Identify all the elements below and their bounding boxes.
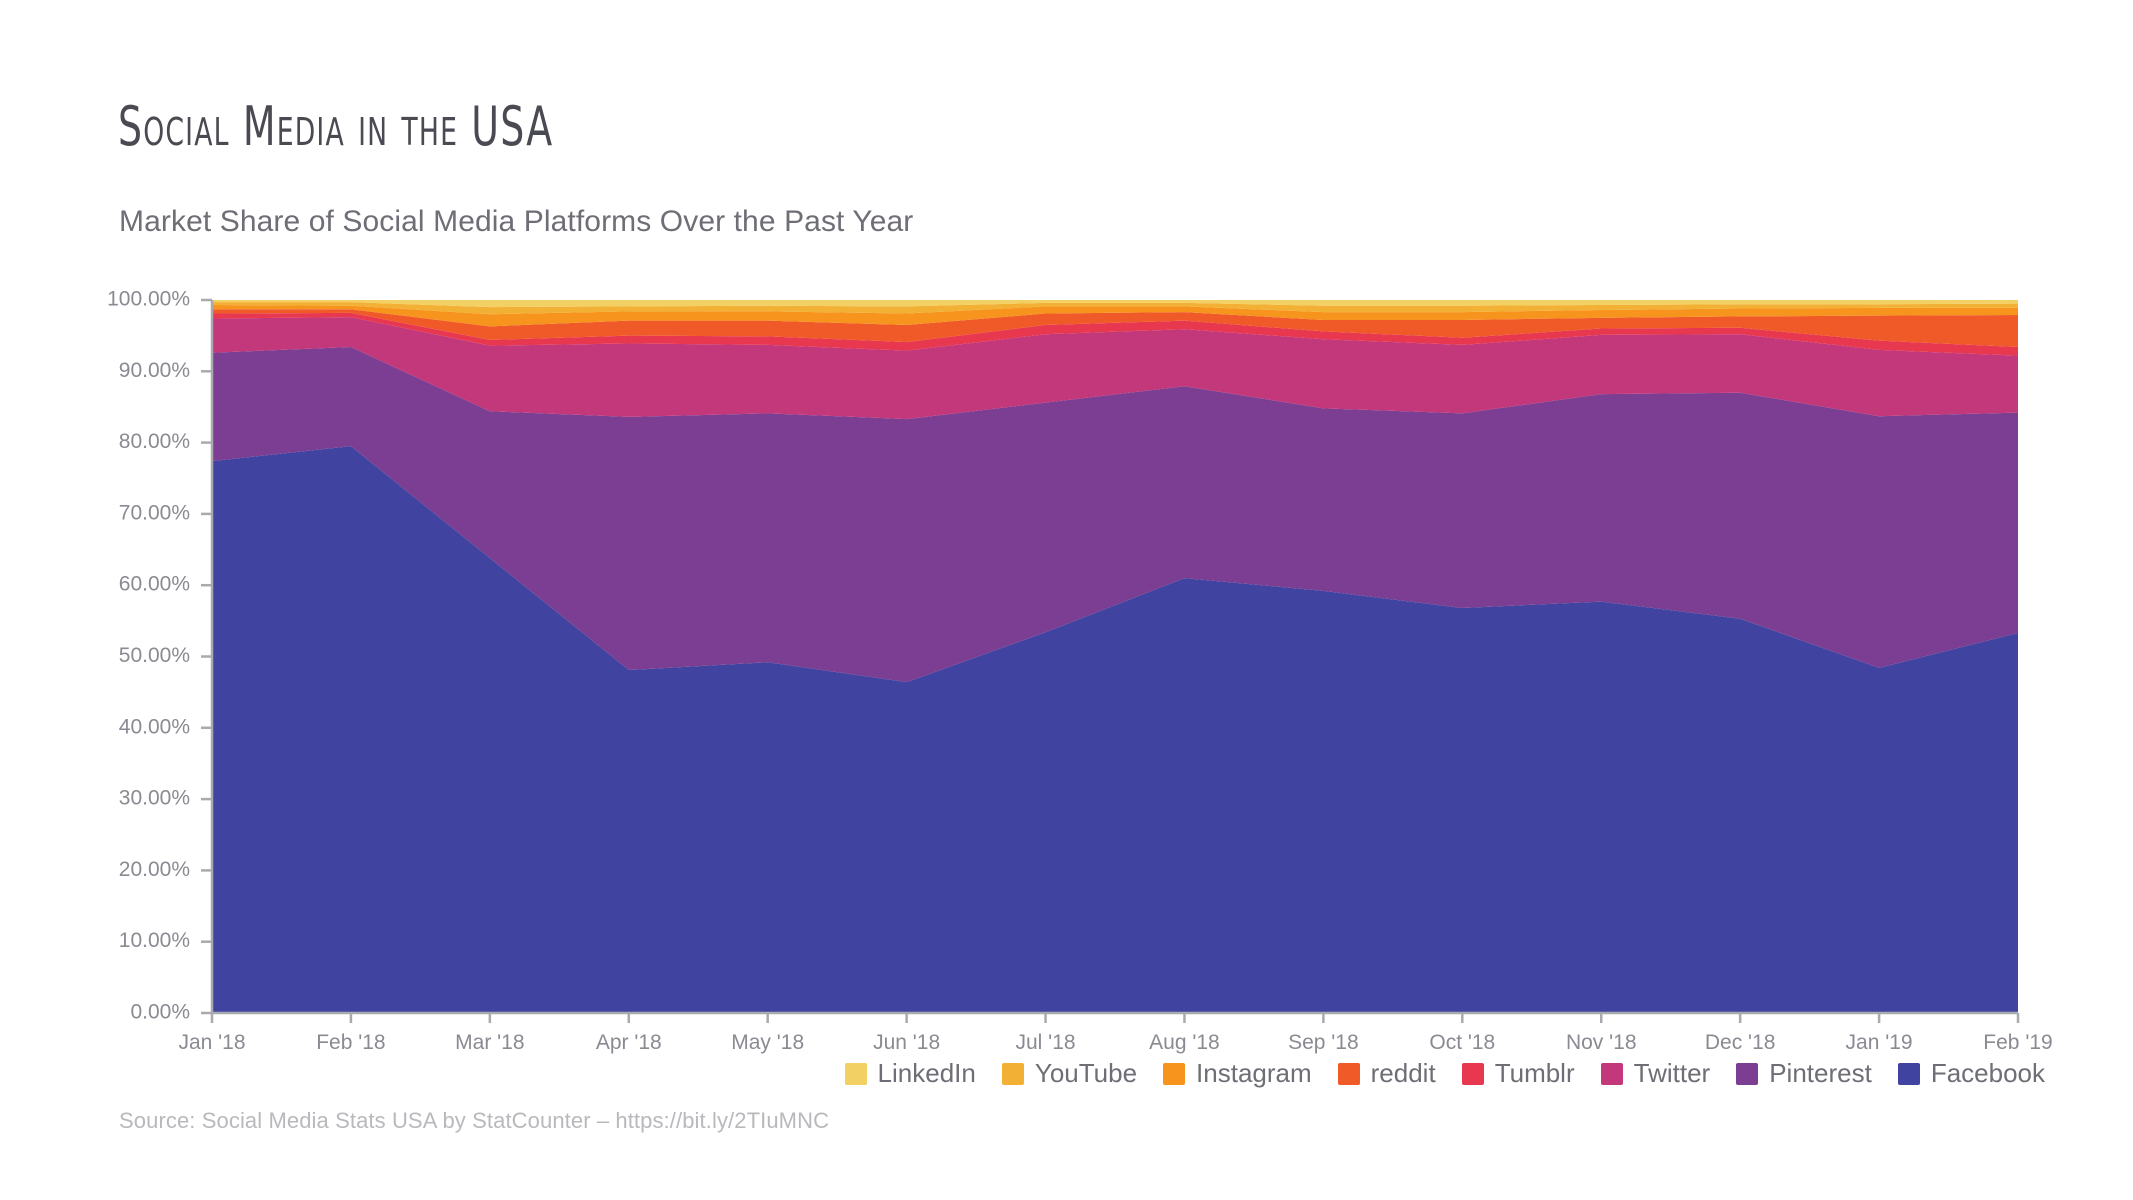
legend-label: Pinterest: [1769, 1058, 1872, 1089]
y-tick-label: 0.00%: [130, 1001, 190, 1024]
legend-swatch-icon: [1163, 1063, 1185, 1085]
y-tick-label: 40.00%: [119, 715, 190, 738]
source-caption: Source: Social Media Stats USA by StatCo…: [119, 1108, 829, 1134]
y-tick-label: 90.00%: [119, 359, 190, 382]
legend-label: Facebook: [1931, 1058, 2045, 1089]
legend-item-tumblr[interactable]: Tumblr: [1462, 1058, 1575, 1089]
x-tick-label: Aug '18: [1149, 1031, 1220, 1054]
legend-swatch-icon: [1601, 1063, 1623, 1085]
legend-label: Tumblr: [1495, 1058, 1575, 1089]
legend-item-youtube[interactable]: YouTube: [1002, 1058, 1137, 1089]
legend-swatch-icon: [1898, 1063, 1920, 1085]
y-tick-label: 60.00%: [119, 573, 190, 596]
legend-label: reddit: [1371, 1058, 1436, 1089]
x-tick-label: Jan '18: [178, 1031, 245, 1054]
x-tick-label: Oct '18: [1429, 1031, 1495, 1054]
legend-item-linkedin[interactable]: LinkedIn: [845, 1058, 976, 1089]
legend-swatch-icon: [1002, 1063, 1024, 1085]
x-tick-label: Feb '19: [1983, 1031, 2052, 1054]
legend-swatch-icon: [1338, 1063, 1360, 1085]
x-tick-label: Apr '18: [596, 1031, 662, 1054]
legend-item-twitter[interactable]: Twitter: [1601, 1058, 1711, 1089]
x-tick-label: Sep '18: [1288, 1031, 1359, 1054]
y-tick-label: 80.00%: [119, 430, 190, 453]
legend-label: LinkedIn: [878, 1058, 976, 1089]
legend-label: Twitter: [1634, 1058, 1711, 1089]
x-tick-label: Mar '18: [455, 1031, 524, 1054]
chart-page: Social Media in the USA Market Share of …: [0, 0, 2133, 1200]
x-tick-label: Feb '18: [316, 1031, 385, 1054]
y-tick-label: 10.00%: [119, 929, 190, 952]
x-tick-label: Jun '18: [873, 1031, 940, 1054]
legend-swatch-icon: [845, 1063, 867, 1085]
y-tick-label: 70.00%: [119, 501, 190, 524]
legend-item-instagram[interactable]: Instagram: [1163, 1058, 1312, 1089]
legend-item-reddit[interactable]: reddit: [1338, 1058, 1436, 1089]
y-tick-label: 20.00%: [119, 858, 190, 881]
x-tick-label: Nov '18: [1566, 1031, 1637, 1054]
x-tick-label: Jul '18: [1016, 1031, 1076, 1054]
x-tick-label: Dec '18: [1705, 1031, 1776, 1054]
legend-swatch-icon: [1736, 1063, 1758, 1085]
legend-swatch-icon: [1462, 1063, 1484, 1085]
legend-item-facebook[interactable]: Facebook: [1898, 1058, 2045, 1089]
stacked-area-chart: 0.00%10.00%20.00%30.00%40.00%50.00%60.00…: [0, 0, 2133, 1060]
y-tick-label: 50.00%: [119, 644, 190, 667]
y-tick-label: 100.00%: [107, 288, 190, 311]
y-tick-label: 30.00%: [119, 787, 190, 810]
x-tick-label: May '18: [731, 1031, 804, 1054]
chart-legend: LinkedInYouTubeInstagramredditTumblrTwit…: [0, 1058, 2045, 1089]
legend-item-pinterest[interactable]: Pinterest: [1736, 1058, 1872, 1089]
legend-label: YouTube: [1035, 1058, 1137, 1089]
x-tick-label: Jan '19: [1846, 1031, 1913, 1054]
legend-label: Instagram: [1196, 1058, 1312, 1089]
